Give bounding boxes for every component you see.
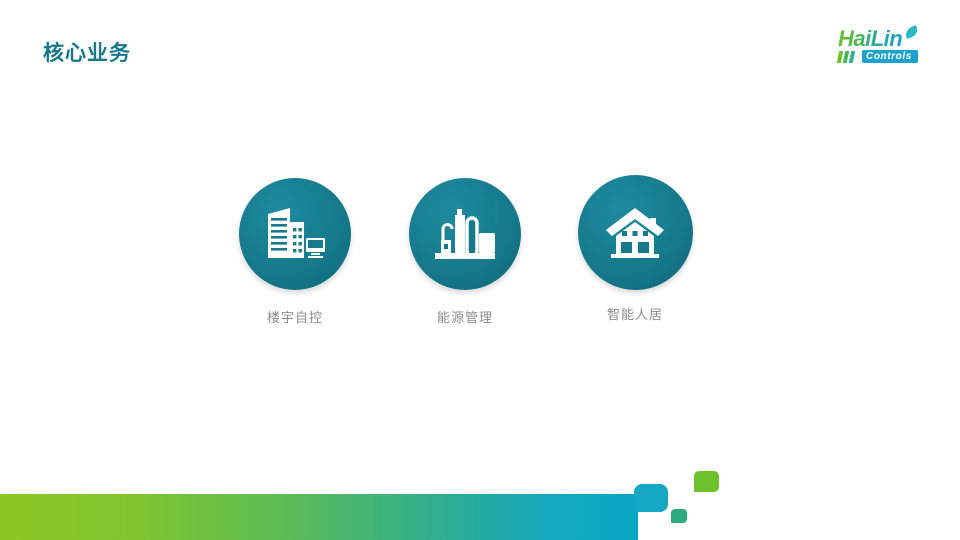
slide-canvas: 核心业务 HaiLin Controls	[0, 0, 960, 540]
icon-circle	[409, 178, 521, 290]
icon-circle	[578, 175, 693, 290]
industrial-plant-icon	[433, 207, 497, 261]
icon-circle	[239, 178, 351, 290]
decor-square-green	[694, 471, 719, 492]
house-home-icon	[604, 205, 666, 261]
decor-square-teal	[671, 509, 687, 523]
bottom-gradient-bar	[0, 494, 638, 540]
core-business-item-energy-management[interactable]: 能源管理	[385, 178, 545, 327]
item-label: 智能人居	[555, 306, 715, 324]
item-label: 楼宇自控	[215, 309, 375, 327]
core-business-group: 楼宇自控 能源管理	[0, 0, 960, 540]
core-business-item-building-automation[interactable]: 楼宇自控	[215, 178, 375, 327]
office-building-monitor-icon	[264, 206, 326, 262]
core-business-item-smart-living[interactable]: 智能人居	[555, 175, 715, 324]
bottom-step-shape	[634, 484, 668, 512]
item-label: 能源管理	[385, 309, 545, 327]
